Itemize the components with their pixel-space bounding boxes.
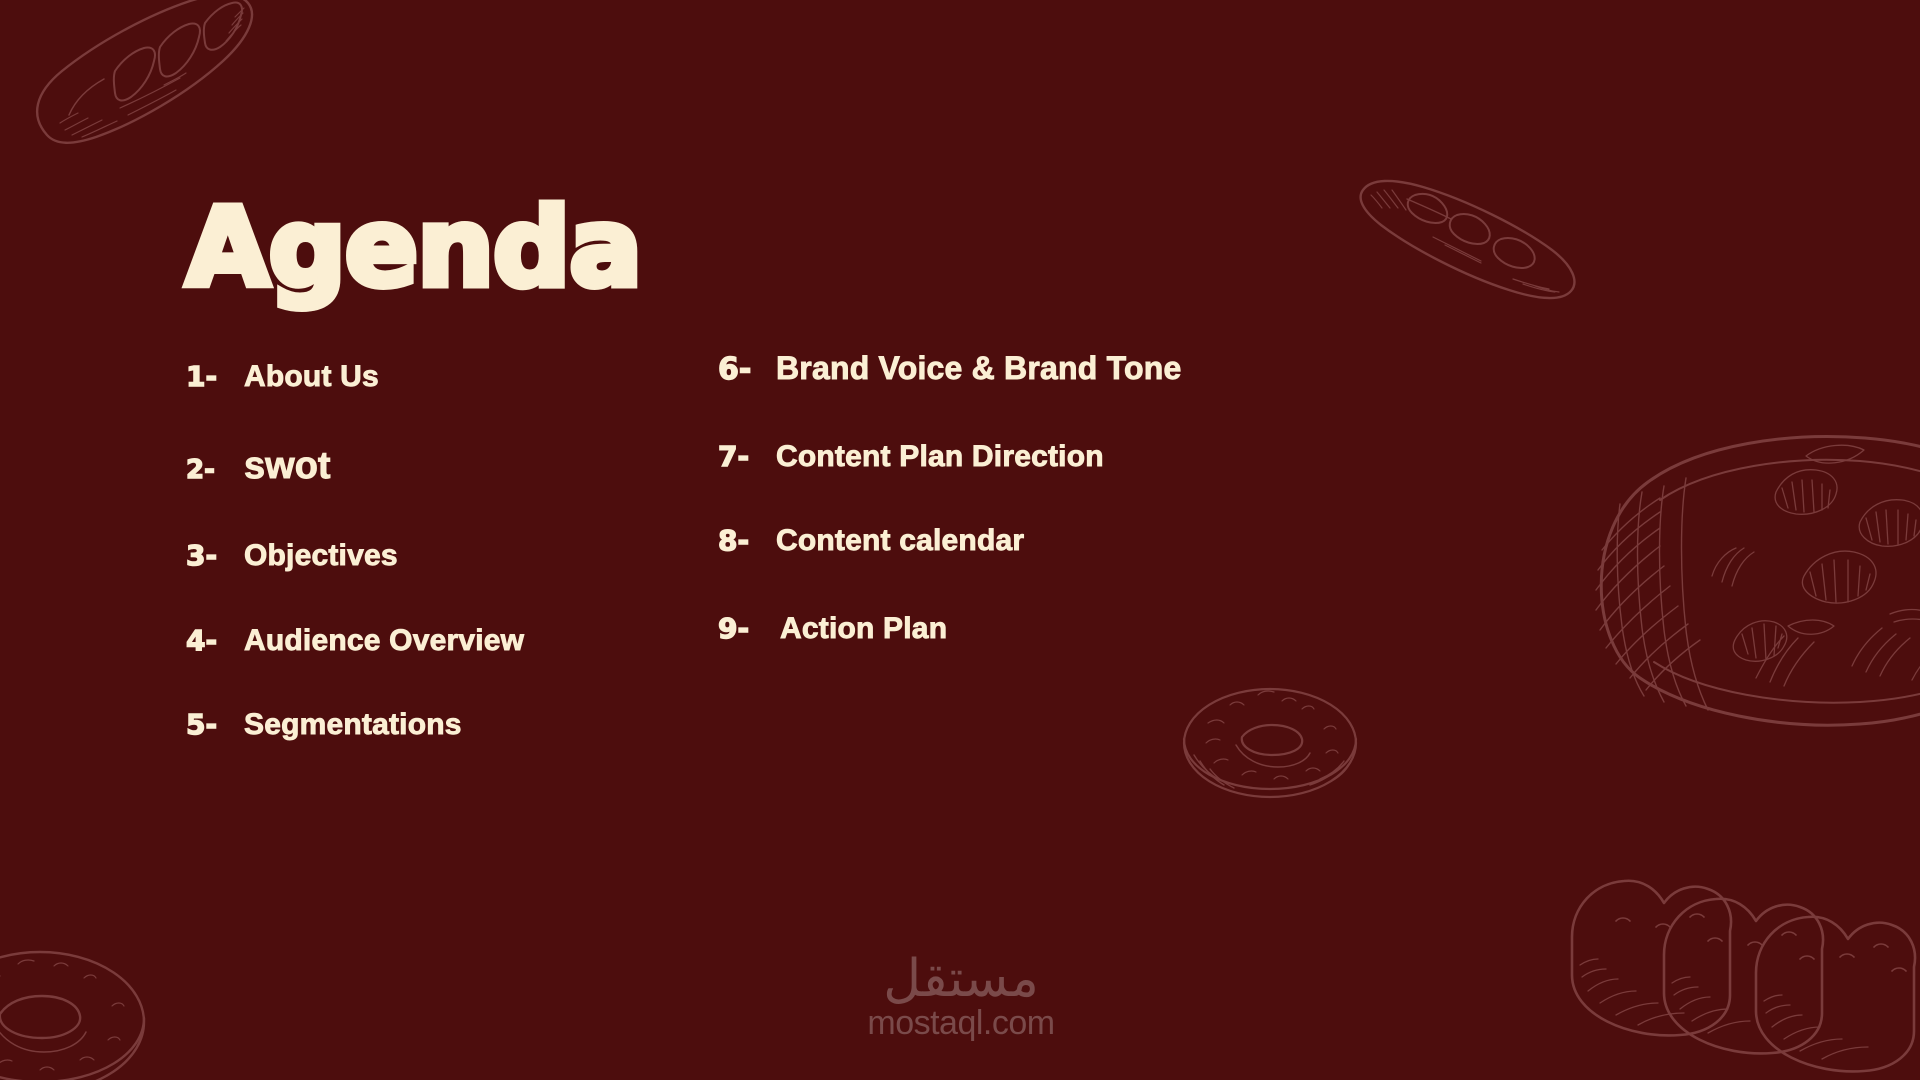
agenda-item-label: Audience Overview: [244, 624, 524, 658]
agenda-column-right: 6- Brand Voice & Brand Tone 7- Content P…: [718, 360, 1358, 646]
mostaql-watermark: مستقل mostaql.com: [826, 952, 1096, 1042]
agenda-item-number: 7-: [718, 440, 776, 473]
agenda-item-segmentations[interactable]: 5- Segmentations: [186, 708, 706, 742]
agenda-item-label: About Us: [244, 360, 379, 394]
watermark-arabic-logo: مستقل: [826, 952, 1096, 1007]
bread-slices-icon: [1560, 845, 1920, 1080]
agenda-item-number: 6-: [718, 352, 776, 387]
agenda-item-label: Segmentations: [244, 708, 462, 742]
donut-center-icon: [1170, 675, 1370, 815]
agenda-item-label: Content Plan Direction: [776, 440, 1104, 474]
agenda-item-content-plan-direction[interactable]: 7- Content Plan Direction: [718, 440, 1358, 474]
agenda-item-number: 1-: [186, 360, 244, 393]
agenda-item-label: swot: [244, 445, 331, 488]
agenda-item-objectives[interactable]: 3- Objectives: [186, 539, 706, 573]
agenda-item-audience-overview[interactable]: 4- Audience Overview: [186, 624, 706, 658]
agenda-item-brand-voice-brand-tone[interactable]: 6- Brand Voice & Brand Tone: [718, 350, 1358, 387]
agenda-item-action-plan[interactable]: 9- Action Plan: [718, 612, 1358, 646]
agenda-slide: Agenda 1- About Us 2- swot 3- Objectives…: [0, 0, 1920, 1080]
watermark-domain-text: mostaql.com: [826, 1005, 1096, 1042]
agenda-item-label: Content calendar: [776, 524, 1024, 558]
slide-title-text: Agenda: [186, 195, 641, 303]
agenda-item-number: 3-: [186, 539, 244, 572]
agenda-item-label: Brand Voice & Brand Tone: [776, 350, 1181, 387]
agenda-item-label: Objectives: [244, 539, 398, 573]
donut-bottomleft-icon: [0, 930, 180, 1080]
agenda-item-number: 8-: [718, 524, 776, 557]
bread-loaf-right-icon: [1560, 430, 1920, 730]
baguette-topleft-icon: [20, 0, 280, 160]
agenda-item-about-us[interactable]: 1- About Us: [186, 360, 706, 394]
agenda-item-number: 5-: [186, 708, 244, 741]
page-title: Agenda: [186, 195, 641, 303]
baguette-topright-icon: [1345, 165, 1595, 315]
agenda-item-number: 9-: [718, 612, 780, 645]
agenda-item-content-calendar[interactable]: 8- Content calendar: [718, 524, 1358, 558]
agenda-item-label: Action Plan: [780, 612, 947, 646]
agenda-column-left: 1- About Us 2- swot 3- Objectives 4- Aud…: [186, 360, 706, 742]
agenda-item-number: 2-: [186, 455, 244, 485]
agenda-item-number: 4-: [186, 624, 244, 657]
agenda-item-swot[interactable]: 2- swot: [186, 445, 706, 488]
